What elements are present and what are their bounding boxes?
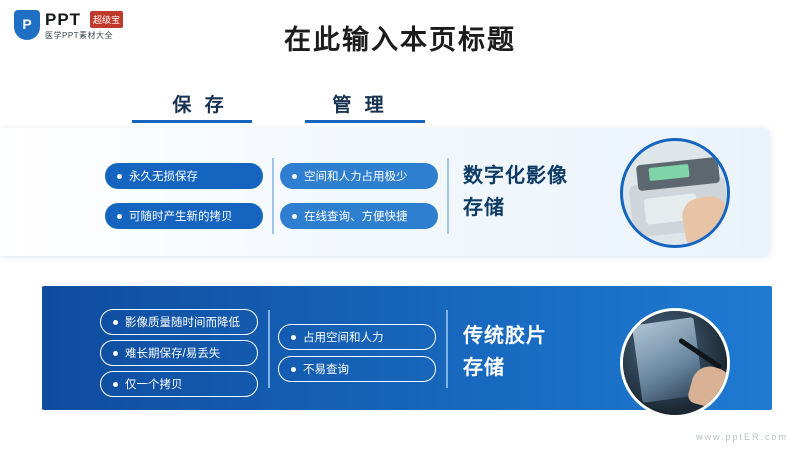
film-storage-label-line1: 传统胶片 — [463, 320, 613, 352]
page-title: 在此输入本页标题 — [0, 18, 800, 57]
list-item[interactable]: 占用空间和人力 — [278, 324, 436, 350]
digital-storage-label-line1: 数字化影像 — [463, 160, 613, 192]
divider-top-1 — [272, 158, 274, 234]
list-item-label: 在线查询、方便快捷 — [304, 208, 408, 224]
bullet-icon — [113, 382, 118, 387]
film-storage-label: 传统胶片 存储 — [463, 320, 613, 384]
list-item[interactable]: 难长期保存/易丢失 — [100, 340, 258, 366]
bullet-icon — [291, 335, 296, 340]
footer-watermark: www.pptER.com — [696, 432, 788, 442]
bullet-icon — [292, 214, 297, 219]
xray-film-photo — [620, 308, 730, 418]
bullet-icon — [291, 367, 296, 372]
list-item[interactable]: 不易查询 — [278, 356, 436, 382]
list-item[interactable]: 永久无损保存 — [105, 163, 263, 189]
divider-top-2 — [447, 158, 449, 234]
digital-storage-label-line2: 存储 — [463, 192, 613, 224]
column-underline-manage — [305, 120, 425, 123]
list-item-label: 永久无损保存 — [129, 168, 198, 184]
list-item-label: 影像质量随时间而降低 — [125, 314, 240, 330]
list-item[interactable]: 在线查询、方便快捷 — [280, 203, 438, 229]
column-header-manage: 管 理 — [300, 90, 420, 117]
bullet-icon — [117, 174, 122, 179]
column-header-save: 保 存 — [140, 90, 260, 117]
fax-machine-photo — [620, 138, 730, 248]
divider-bottom-1 — [268, 310, 270, 388]
list-item-label: 不易查询 — [303, 361, 349, 377]
list-item[interactable]: 仅一个拷贝 — [100, 371, 258, 397]
bullet-icon — [292, 174, 297, 179]
list-item-label: 仅一个拷贝 — [125, 376, 183, 392]
list-item[interactable]: 可随时产生新的拷贝 — [105, 203, 263, 229]
digital-storage-label: 数字化影像 存储 — [463, 160, 613, 224]
list-item[interactable]: 空间和人力占用极少 — [280, 163, 438, 189]
bullet-icon — [113, 351, 118, 356]
list-item-label: 占用空间和人力 — [303, 329, 384, 345]
list-item-label: 难长期保存/易丢失 — [125, 345, 220, 361]
list-item-label: 可随时产生新的拷贝 — [129, 208, 233, 224]
divider-bottom-2 — [446, 310, 448, 388]
column-underline-save — [132, 120, 252, 123]
bullet-icon — [117, 214, 122, 219]
film-storage-label-line2: 存储 — [463, 352, 613, 384]
bullet-icon — [113, 320, 118, 325]
list-item[interactable]: 影像质量随时间而降低 — [100, 309, 258, 335]
list-item-label: 空间和人力占用极少 — [304, 168, 408, 184]
